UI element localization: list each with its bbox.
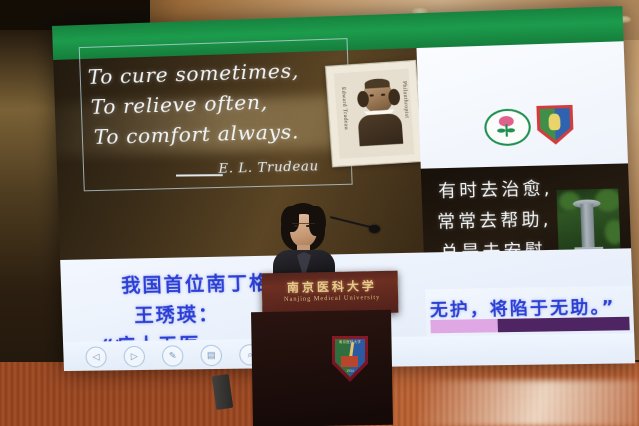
podium-body [251,310,393,426]
slide-overview-button[interactable]: ▤ [200,345,222,367]
microphone-icon [369,225,380,233]
quote-attribution: E. L. Trudeau [218,159,319,177]
trudeau-portrait-icon [353,78,405,146]
chinese-quote-line-2: 常常去帮助, [437,205,552,233]
next-slide-button[interactable]: ▷ [123,346,145,367]
chinese-quote-line-1: 有时去治愈, [438,174,553,202]
nursing-association-logo-icon [484,108,532,146]
slide-right-white-panel [416,41,628,168]
pen-tool-button[interactable]: ✎ [162,345,184,366]
nurse-quote-line-2: 王琇瑛： [134,299,220,328]
decorative-pink-bar-right [430,319,498,333]
floor-light-reflection [419,380,639,426]
podium-university-name-en: Nanjing Medical University [282,294,382,303]
lecture-hall-photo: To cure sometimes, To relieve often, To … [0,0,639,426]
decorative-purple-bar-right [498,317,630,333]
podium-header-panel: 南京医科大学 Nanjing Medical University [262,271,399,316]
podium-university-name-cn: 南京医科大学 [282,277,382,296]
stamp-inner: Edward Trudeau Philanthropist [334,69,415,159]
stamp-name-text: Edward Trudeau [340,87,349,130]
quote-line-2: To relieve often, [90,89,268,118]
previous-slide-button[interactable]: ◁ [85,346,107,367]
trudeau-postage-stamp: Edward Trudeau Philanthropist [326,61,422,166]
university-shield-logo-icon [536,105,573,145]
